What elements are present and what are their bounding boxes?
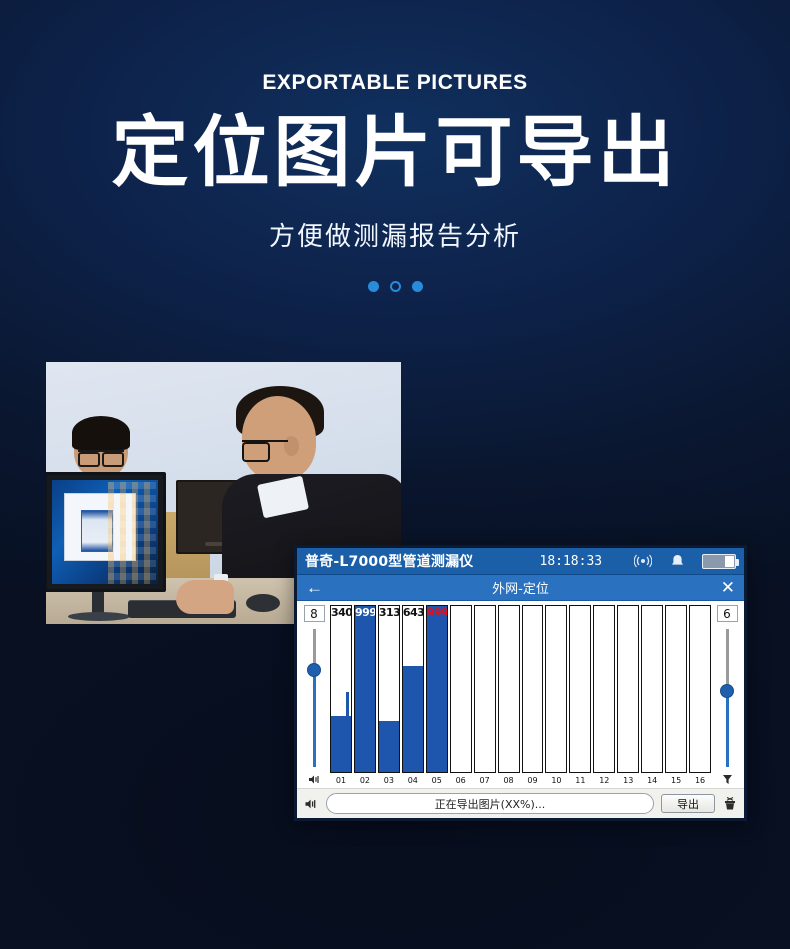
chart-x-tick-05: 05 [426,776,448,785]
left-gain-slider[interactable]: 8 [300,605,328,788]
chart-bar-fill-05 [427,606,447,772]
chart-bar-11[interactable] [569,605,591,773]
chart-x-tick-08: 08 [498,776,520,785]
device-content-area: 8 340999313643999 0102030405060708091011… [297,601,744,788]
left-slider-track[interactable] [313,629,316,767]
photo-monitor-front [46,472,166,592]
wifi-signal-icon [634,554,652,568]
chart-bar-04[interactable]: 643 [402,605,424,773]
volume-icon[interactable] [303,797,319,811]
chart-x-tick-04: 04 [402,776,424,785]
photo-hand [176,580,234,614]
chart-x-tick-07: 07 [474,776,496,785]
device-app-name: 普奇-L7000型管道测漏仪 [305,551,474,571]
chart-bar-fill-03 [379,721,399,772]
chart-bar-value-01: 340 [331,606,351,619]
photo-person-1-hair [72,416,130,450]
close-icon[interactable]: ✕ [721,579,735,596]
chart-bar-15[interactable] [665,605,687,773]
filter-icon[interactable] [721,770,734,788]
photo-monitor-base [68,612,130,621]
chart-bar-value-02: 999 [355,606,375,619]
right-filter-slider[interactable]: 6 [713,605,741,788]
left-slider-knob[interactable] [307,663,321,677]
chart-bar-12[interactable] [593,605,615,773]
chart-x-tick-12: 12 [593,776,615,785]
export-status-panel: 正在导出图片(XX%)... [326,793,654,814]
chart-bar-07[interactable] [474,605,496,773]
chart-x-tick-16: 16 [689,776,711,785]
page-title: 定位图片可导出 [0,115,790,194]
chart-x-tick-01: 01 [330,776,352,785]
photo-mouse [246,594,280,612]
chart-x-tick-03: 03 [378,776,400,785]
chart-x-tick-10: 10 [545,776,567,785]
chart-bar-02[interactable]: 999 [354,605,376,773]
photo-monitor-stand [92,592,104,614]
chart-bar-value-03: 313 [379,606,399,619]
chart-x-tick-14: 14 [641,776,663,785]
trash-icon[interactable] [722,796,738,811]
leak-bar-chart: 340999313643999 010203040506070809101112… [328,605,713,788]
export-button[interactable]: 导出 [661,794,715,813]
export-status-text: 正在导出图片(XX%)... [435,796,546,812]
chart-bar-value-04: 643 [403,606,423,619]
chart-x-axis: 01020304050607080910111213141516 [330,773,711,788]
chart-x-tick-06: 06 [450,776,472,785]
header-kicker: EXPORTABLE PICTURES [0,72,790,93]
chart-bar-13[interactable] [617,605,639,773]
chart-bar-09[interactable] [522,605,544,773]
carousel-dot-1[interactable] [368,281,379,292]
carousel-dot-3[interactable] [412,281,423,292]
photo-desktop-icons [108,482,156,584]
carousel-dots[interactable] [0,281,790,292]
carousel-dot-2[interactable] [390,281,401,292]
chart-bar-spike-01 [346,692,349,772]
chart-bar-08[interactable] [498,605,520,773]
bell-icon [671,554,684,568]
photo-person-1-glasses [78,450,124,462]
chart-bar-05[interactable]: 999 [426,605,448,773]
chart-bar-fill-02 [355,606,375,772]
device-nav-bar: ← 外网-定位 ✕ [297,575,744,601]
photo-person-2-head [242,396,316,480]
device-page-title: 外网-定位 [297,578,744,597]
chart-bar-06[interactable] [450,605,472,773]
page-subtitle: 方便做测漏报告分析 [0,216,790,253]
chart-bars-container: 340999313643999 [330,605,711,773]
chart-x-tick-11: 11 [569,776,591,785]
chart-x-tick-15: 15 [665,776,687,785]
header-block: EXPORTABLE PICTURES 定位图片可导出 方便做测漏报告分析 [0,72,790,253]
photo-person-2-glasses [242,440,288,456]
right-slider-value: 6 [717,605,738,622]
device-clock: 18:18:33 [540,554,603,569]
right-slider-knob[interactable] [720,684,734,698]
left-slider-value: 8 [304,605,325,622]
device-screenshot-window: 普奇-L7000型管道测漏仪 18:18:33 [294,545,747,821]
chart-bar-14[interactable] [641,605,663,773]
page-background: EXPORTABLE PICTURES 定位图片可导出 方便做测漏报告分析 [0,0,790,949]
chart-bar-value-05: 999 [427,606,447,619]
chart-bar-01[interactable]: 340 [330,605,352,773]
device-status-bar: 普奇-L7000型管道测漏仪 18:18:33 [297,548,744,575]
device-footer-bar: 正在导出图片(XX%)... 导出 [297,788,744,818]
battery-icon [702,554,736,569]
chart-bar-03[interactable]: 313 [378,605,400,773]
back-arrow-icon[interactable]: ← [306,579,323,596]
right-slider-track[interactable] [726,629,729,767]
photo-monitor-screen [52,480,158,584]
chart-bar-fill-04 [403,666,423,772]
chart-bar-10[interactable] [545,605,567,773]
chart-x-tick-02: 02 [354,776,376,785]
chart-bar-16[interactable] [689,605,711,773]
chart-x-tick-13: 13 [617,776,639,785]
volume-icon[interactable] [308,770,321,788]
chart-x-tick-09: 09 [522,776,544,785]
